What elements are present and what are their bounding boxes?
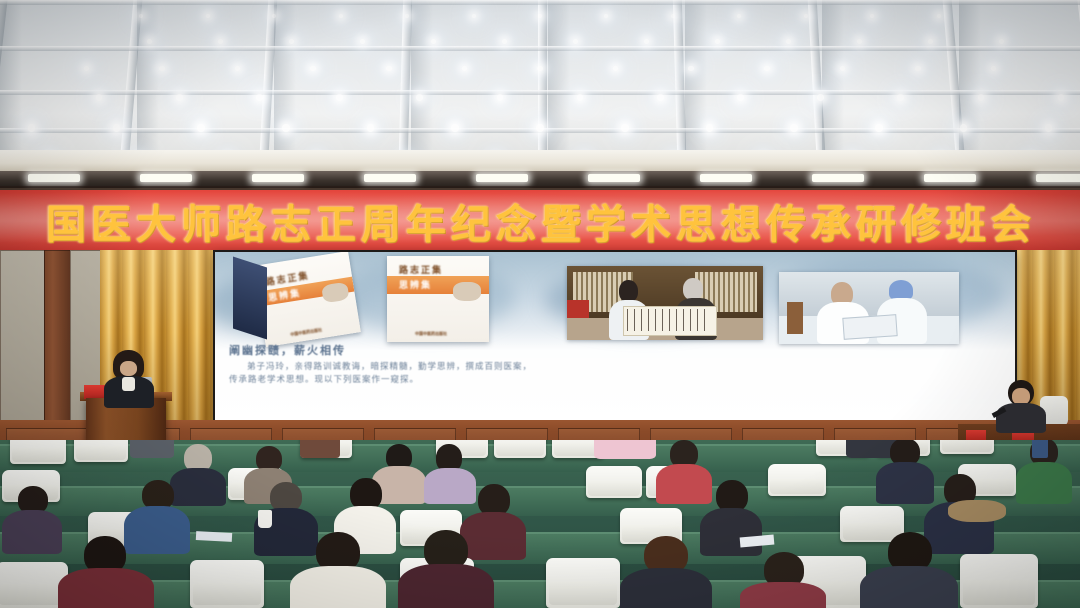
audience-person bbox=[58, 536, 154, 608]
linear-tube-light bbox=[924, 174, 976, 182]
linear-tube-light bbox=[700, 174, 752, 182]
audience-chair bbox=[190, 560, 264, 608]
linear-tube-light bbox=[588, 174, 640, 182]
ceiling-downlight bbox=[96, 94, 103, 101]
ceiling-downlight bbox=[360, 39, 365, 44]
ceiling-soffit bbox=[0, 150, 1080, 172]
ceiling-downlight bbox=[336, 94, 343, 101]
audience-chair bbox=[940, 440, 994, 454]
ceiling-downlight bbox=[604, 14, 608, 18]
presenter-face bbox=[120, 361, 137, 376]
ceiling-downlight bbox=[256, 94, 263, 101]
ceiling-downlight bbox=[577, 94, 584, 101]
ceiling-downlight bbox=[113, 124, 121, 132]
presenter-collar bbox=[122, 377, 135, 391]
ceiling-downlight bbox=[289, 39, 294, 44]
audience-chair bbox=[494, 440, 546, 458]
audience-person bbox=[300, 440, 340, 456]
slide-book-cover-flat: 路志正集 思辨集 中国中医药出版社 bbox=[387, 256, 489, 342]
linear-tube-light bbox=[364, 174, 416, 182]
ceiling-downlight bbox=[502, 39, 507, 44]
audience-chair bbox=[960, 554, 1038, 608]
ceiling-downlight bbox=[282, 124, 290, 132]
ceiling-downlight bbox=[538, 14, 542, 18]
ceiling-downlight bbox=[472, 14, 476, 18]
audience-fur-collar bbox=[948, 500, 1006, 522]
slide-heading: 阐幽探赜，薪火相传 bbox=[229, 342, 1005, 358]
ceiling-rib-horizontal bbox=[0, 90, 1080, 95]
ceiling-downlight bbox=[621, 124, 629, 132]
ceiling-downlight bbox=[875, 124, 883, 132]
ceiling-downlight bbox=[928, 39, 933, 44]
projection-screen: 路志正集 思辨集 中国中医药出版社 路志正集 思辨集 中国中医药出版社 bbox=[215, 252, 1015, 422]
ceiling-downlight bbox=[897, 94, 904, 101]
presenter-at-podium bbox=[100, 352, 158, 404]
audience-phone bbox=[1032, 440, 1048, 458]
linear-tube-light bbox=[812, 174, 864, 182]
audience-person bbox=[2, 486, 62, 552]
ceiling-downlight bbox=[671, 14, 675, 18]
ceiling-downlight bbox=[870, 14, 874, 18]
ceiling bbox=[0, 0, 1080, 152]
ceiling-downlight bbox=[786, 39, 791, 44]
linear-tube-light bbox=[252, 174, 304, 182]
ceiling-downlight bbox=[978, 94, 985, 101]
audience-person bbox=[398, 530, 494, 608]
ceiling-downlight bbox=[790, 124, 798, 132]
ceiling-downlight bbox=[536, 124, 544, 132]
ceiling-downlight bbox=[804, 14, 808, 18]
ceiling-downlight bbox=[431, 39, 436, 44]
slide-body-line-2: 传承路老学术思想。现以下列医案作一窥探。 bbox=[229, 374, 1005, 387]
ceiling-downlight bbox=[1058, 94, 1065, 101]
audience-chair bbox=[586, 466, 642, 498]
ceiling-downlight bbox=[386, 66, 392, 72]
ceiling-downlight bbox=[235, 66, 241, 72]
ceiling-downlight bbox=[1045, 124, 1053, 132]
slide-book-cover-tilted: 路志正集 思辨集 中国中医药出版社 bbox=[253, 252, 361, 347]
slide-photo-calligraphy bbox=[567, 266, 763, 340]
ceiling-downlight bbox=[218, 39, 223, 44]
audience-chair bbox=[546, 558, 620, 608]
audience-person bbox=[620, 536, 712, 608]
ceiling-downlight bbox=[176, 94, 183, 101]
ceiling-rib-horizontal bbox=[0, 0, 1080, 5]
event-banner: 国医大师路志正周年纪念暨学术思想传承研修班会 bbox=[0, 190, 1080, 252]
ceiling-downlight bbox=[462, 66, 468, 72]
ceiling-downlight bbox=[937, 14, 941, 18]
desk-cup bbox=[258, 510, 272, 528]
ceiling-downlight bbox=[573, 39, 578, 44]
ceiling-downlight bbox=[857, 39, 862, 44]
linear-tube-light bbox=[1036, 174, 1080, 182]
ceiling-downlight bbox=[451, 124, 459, 132]
linear-tube-light bbox=[28, 174, 80, 182]
ceiling-downlight bbox=[206, 14, 210, 18]
ceiling-downlight bbox=[737, 94, 744, 101]
ceiling-downlight bbox=[817, 94, 824, 101]
ceiling-downlight bbox=[197, 124, 205, 132]
desk-notebook bbox=[196, 531, 232, 542]
ceiling-downlight bbox=[644, 39, 649, 44]
ceiling-downlight bbox=[147, 39, 152, 44]
audience-chair bbox=[74, 440, 128, 462]
audience-seating bbox=[0, 440, 1080, 608]
ceiling-downlight bbox=[613, 66, 619, 72]
slide-photo-clinic bbox=[779, 272, 959, 344]
ceiling-downlight bbox=[84, 66, 90, 72]
ceiling-downlight bbox=[737, 14, 741, 18]
head-table-person bbox=[996, 380, 1046, 428]
audience-person bbox=[130, 440, 174, 456]
ceiling-downlight bbox=[657, 94, 664, 101]
ceiling-downlight bbox=[999, 39, 1004, 44]
ceiling-downlight bbox=[416, 94, 423, 101]
banner-title: 国医大师路志正周年纪念暨学术思想传承研修班会 bbox=[0, 192, 1080, 250]
conference-hall-photo: 国医大师路志正周年纪念暨学术思想传承研修班会 路志正集 思辨集 中国中医药出版社 bbox=[0, 0, 1080, 608]
linear-tube-light bbox=[140, 174, 192, 182]
ceiling-downlight bbox=[497, 94, 504, 101]
slide-body-line-1: 弟子冯玲，亲得路训诚教诲，暗探精髓，勤学思辨，撰成百则医案， bbox=[229, 361, 1005, 374]
audience-chair bbox=[10, 440, 66, 464]
ceiling-downlight bbox=[310, 66, 316, 72]
ceiling-downlight bbox=[915, 66, 921, 72]
audience-chair bbox=[768, 464, 826, 496]
ceiling-rib-horizontal bbox=[0, 46, 1080, 51]
ceiling-downlight bbox=[715, 39, 720, 44]
ceiling-downlight bbox=[764, 66, 770, 72]
audience-person bbox=[290, 532, 386, 608]
ceiling-downlight bbox=[339, 14, 343, 18]
audience-person bbox=[594, 440, 656, 458]
audience-person bbox=[740, 552, 826, 608]
slide-text-block: 阐幽探赜，薪火相传 弟子冯玲，亲得路训诚教诲，暗探精髓，勤学思辨，撰成百则医案，… bbox=[229, 342, 1005, 387]
linear-tube-light bbox=[476, 174, 528, 182]
audience-person bbox=[860, 532, 958, 608]
slide-book-spine bbox=[233, 256, 267, 339]
